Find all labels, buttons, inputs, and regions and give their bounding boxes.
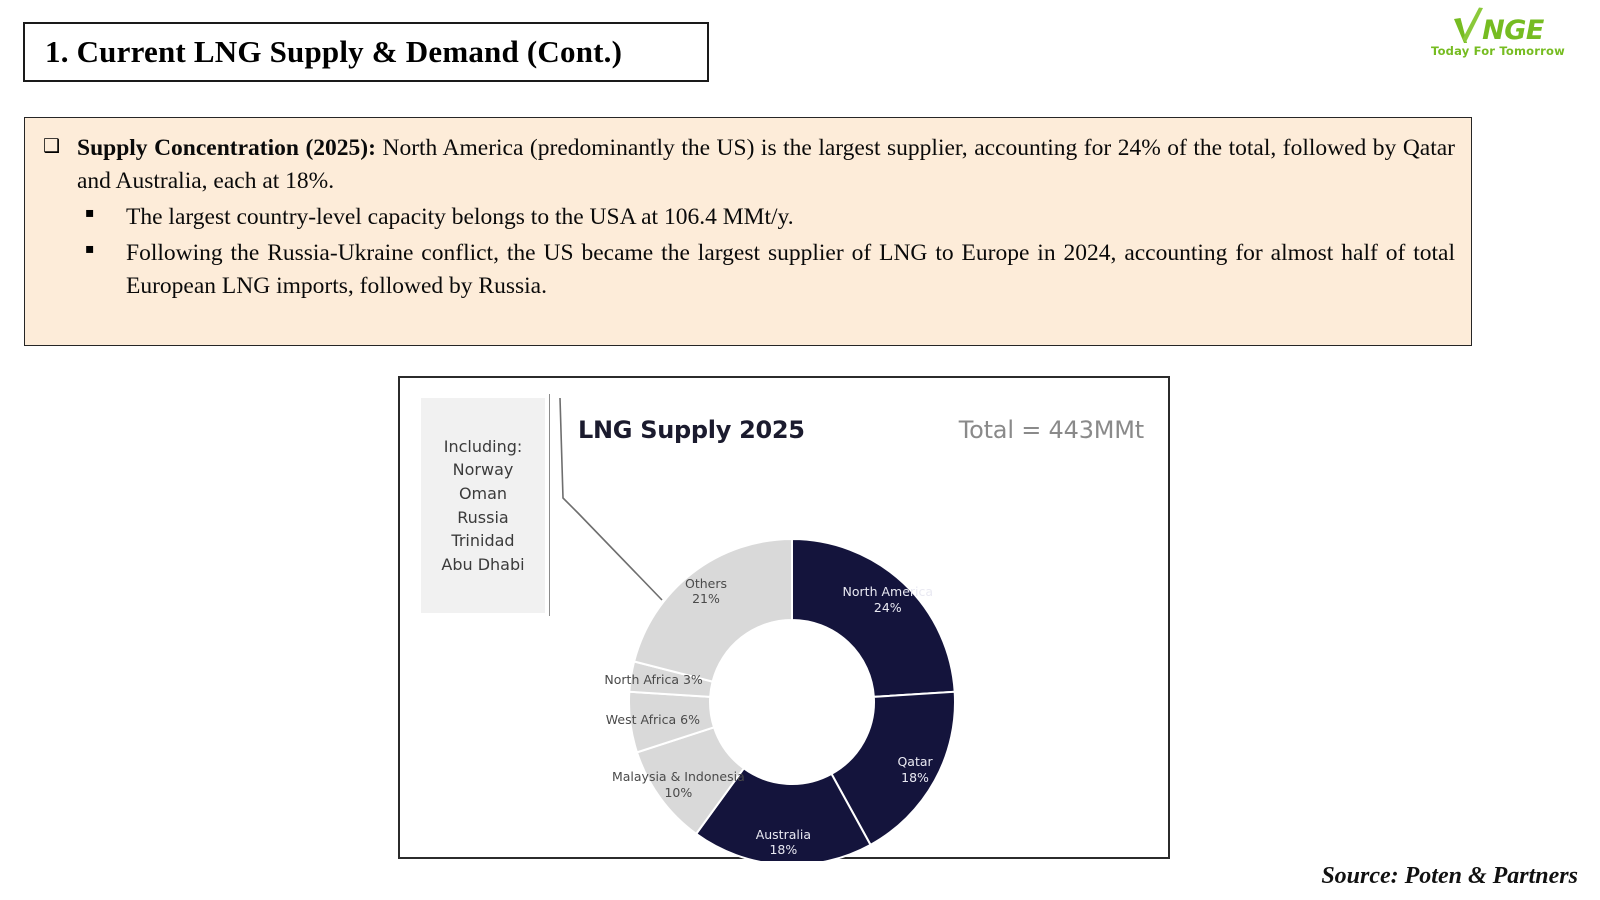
donut-slice-others xyxy=(634,539,792,682)
slice-label-north-america: North America24% xyxy=(843,584,934,615)
check-mark-icon xyxy=(1452,6,1486,46)
key-points-callout: ❑ Supply Concentration (2025): North Ame… xyxy=(24,117,1472,346)
slice-label-malaysia-indonesia: Malaysia & Indonesia10% xyxy=(612,769,745,800)
donut-chart: North America24%Qatar18%Australia18%Mala… xyxy=(400,378,1172,861)
slice-label-value: 18% xyxy=(769,842,797,857)
slice-label-value: 18% xyxy=(901,770,929,785)
slice-label-name: Malaysia & Indonesia xyxy=(612,769,745,784)
slice-label-australia: Australia18% xyxy=(756,827,811,858)
donut-svg xyxy=(400,378,1172,861)
logo-wordmark: NGE xyxy=(1482,17,1544,44)
donut-slice-north-america xyxy=(792,539,955,697)
page-title-box: 1. Current LNG Supply & Demand (Cont.) xyxy=(23,22,709,82)
bullet-sub-2-text: Following the Russia-Ukraine conflict, t… xyxy=(126,237,1455,305)
company-logo: NGE Today For Tomorrow xyxy=(1418,6,1578,68)
slice-label-name: Qatar xyxy=(897,754,932,769)
slice-label-name: Others xyxy=(685,576,727,591)
slice-label-north-africa: North Africa 3% xyxy=(604,672,702,688)
bullet-main-lead: Supply Concentration (2025): xyxy=(77,135,376,161)
page-title: 1. Current LNG Supply & Demand (Cont.) xyxy=(25,34,622,70)
hollow-square-bullet-icon: ❑ xyxy=(43,132,77,161)
chart-frame: Including: Norway Oman Russia Trinidad A… xyxy=(398,376,1170,859)
bullet-main-text: Supply Concentration (2025): North Ameri… xyxy=(77,132,1455,199)
slice-label-value: 10% xyxy=(664,785,692,800)
slice-label-qatar: Qatar18% xyxy=(897,754,932,785)
bullet-sub-2: ▪ Following the Russia-Ukraine conflict,… xyxy=(43,237,1455,305)
slice-label-others: Others21% xyxy=(685,576,727,607)
bullet-sub-1-text: The largest country-level capacity belon… xyxy=(126,201,1455,235)
logo-mark: NGE xyxy=(1418,6,1578,46)
slice-label-name: North America xyxy=(843,584,934,599)
slice-label-value: 24% xyxy=(874,600,902,615)
logo-tagline: Today For Tomorrow xyxy=(1418,44,1578,58)
filled-square-bullet-icon: ▪ xyxy=(85,237,126,262)
annotation-leader-line xyxy=(560,398,662,600)
source-note: Source: Poten & Partners xyxy=(1321,863,1578,890)
filled-square-bullet-icon: ▪ xyxy=(85,201,126,226)
bullet-sub-1: ▪ The largest country-level capacity bel… xyxy=(43,201,1455,235)
slice-label-value: 21% xyxy=(692,591,720,606)
chart-inner: Including: Norway Oman Russia Trinidad A… xyxy=(400,378,1168,857)
slice-label-west-africa: West Africa 6% xyxy=(606,712,700,728)
slice-label-name: Australia xyxy=(756,827,811,842)
bullet-main: ❑ Supply Concentration (2025): North Ame… xyxy=(43,132,1455,199)
